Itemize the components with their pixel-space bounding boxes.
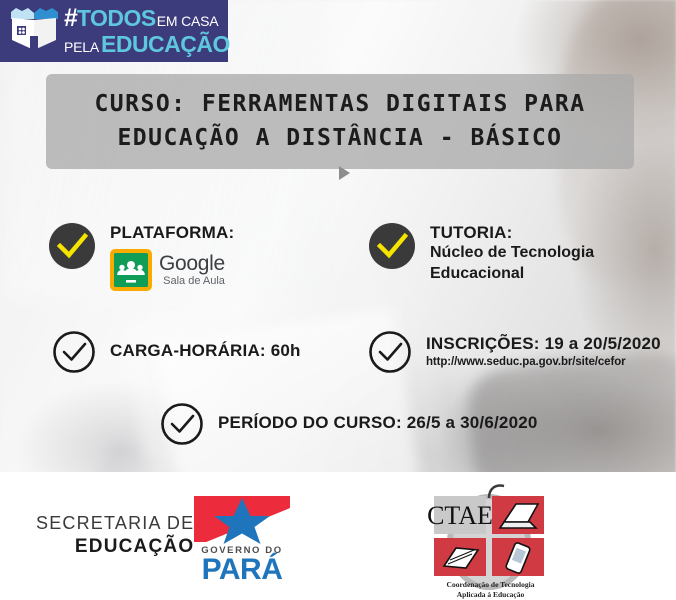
periodo-label: PERÍODO DO CURSO: 26/5 a 30/6/2020 [218,412,538,433]
tutoria-value-line-1: Núcleo de Tecnologia [430,243,594,264]
inscricoes-url[interactable]: http://www.seduc.pa.gov.br/site/cefor [426,356,661,368]
info-body-plataforma: PLATAFORMA: [110,222,234,291]
check-outline-icon [368,330,412,374]
open-book-house-icon [6,6,62,56]
info-item-carga-horaria: CARGA-HORÁRIA: 60h [52,330,301,374]
info-item-inscricoes: INSCRIÇÕES: 19 a 20/5/2020 http://www.se… [368,330,661,374]
logo-word-pela: PELA [64,40,99,54]
google-classroom-logo: Google Sala de Aula [110,249,234,291]
course-title-plaque: CURSO: FERRAMENTAS DIGITAIS PARA EDUCAÇÃ… [46,74,634,169]
info-body-tutoria: TUTORIA: Núcleo de Tecnologia Educaciona… [430,222,594,285]
info-body-periodo: PERÍODO DO CURSO: 26/5 a 30/6/2020 [218,402,538,433]
google-classroom-icon [110,249,152,291]
seduc-wordmark: SECRETARIA DE EDUCAÇÃO [36,514,194,558]
check-outline-icon [52,330,96,374]
ctae-caption-line-2: Aplicada à Educação [408,590,573,600]
governo-do-para-logo: GOVERNO DO PARÁ [194,494,290,582]
google-text: Google [159,253,225,274]
play-triangle-icon [339,166,350,180]
ctae-caption: Coordenação de Tecnologia Aplicada à Edu… [408,580,573,600]
carga-horaria-label: CARGA-HORÁRIA: 60h [110,340,301,361]
check-outline-icon [160,402,204,446]
footer-bar: SECRETARIA DE EDUCAÇÃO GOVERNO DO PARÁ [0,472,676,600]
course-poster: #TODOSEM CASA PELAEDUCAÇÃO CURSO: FERRAM… [0,0,676,600]
info-body-inscricoes: INSCRIÇÕES: 19 a 20/5/2020 http://www.se… [426,330,661,368]
logo-word-em-casa: EM CASA [157,14,219,28]
google-classroom-wordmark: Google Sala de Aula [159,253,225,287]
inscricoes-label: INSCRIÇÕES: 19 a 20/5/2020 [426,333,661,354]
logo-word-todos: TODOS [77,7,156,30]
seduc-line-1: SECRETARIA DE [36,514,194,534]
info-item-periodo: PERÍODO DO CURSO: 26/5 a 30/6/2020 [160,402,538,446]
ctae-caption-line-1: Coordenação de Tecnologia [408,580,573,590]
info-item-plataforma: PLATAFORMA: [48,222,234,291]
logo-word-educacao: EDUCAÇÃO [101,33,230,56]
campaign-logo-band: #TODOSEM CASA PELAEDUCAÇÃO [0,0,228,62]
para-text: PARÁ [194,556,290,585]
info-body-carga-horaria: CARGA-HORÁRIA: 60h [110,330,301,361]
sala-de-aula-text: Sala de Aula [159,276,225,287]
para-wordmark: GOVERNO DO PARÁ [194,545,290,585]
course-title-line-1: CURSO: FERRAMENTAS DIGITAIS PARA [94,88,585,121]
check-filled-icon [48,222,96,270]
tutoria-value-line-2: Educacional [430,264,594,285]
info-item-tutoria: TUTORIA: Núcleo de Tecnologia Educaciona… [368,222,594,285]
seduc-line-2: EDUCAÇÃO [36,537,194,558]
tutoria-label: TUTORIA: [430,222,594,243]
course-title-line-2: EDUCAÇÃO A DISTÂNCIA - BÁSICO [117,122,562,155]
check-filled-icon [368,222,416,270]
ctae-logo: CTAE [412,480,566,592]
plataforma-label: PLATAFORMA: [110,222,234,243]
campaign-logo-text: #TODOSEM CASA PELAEDUCAÇÃO [64,6,230,56]
hashtag-symbol: # [64,6,77,31]
svg-text:CTAE: CTAE [427,501,493,530]
para-flag-icon [194,494,290,544]
